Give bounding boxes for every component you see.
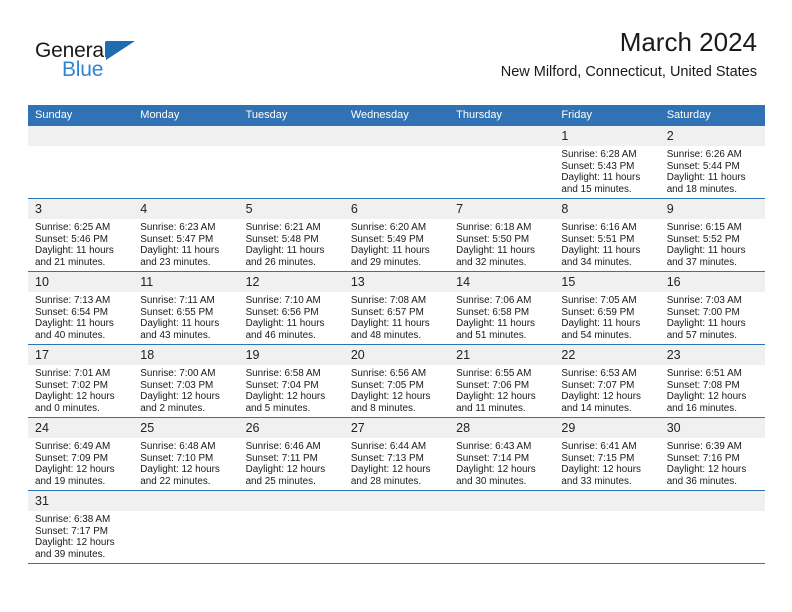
triangle-icon [106, 41, 135, 60]
sunset-line: Sunset: 7:06 PM [456, 380, 548, 392]
day-number: 26 [239, 418, 344, 438]
day-details: Sunrise: 7:10 AMSunset: 6:56 PMDaylight:… [239, 292, 344, 341]
sunset-line: Sunset: 5:44 PM [667, 161, 759, 173]
calendar-day-cell[interactable]: 12Sunrise: 7:10 AMSunset: 6:56 PMDayligh… [239, 272, 344, 345]
day-number: 16 [660, 272, 765, 292]
sunrise-line: Sunrise: 6:25 AM [35, 222, 127, 234]
day-number: 14 [449, 272, 554, 292]
calendar-day-cell[interactable]: 16Sunrise: 7:03 AMSunset: 7:00 PMDayligh… [660, 272, 765, 345]
sunset-line: Sunset: 7:04 PM [246, 380, 338, 392]
day-details: Sunrise: 6:18 AMSunset: 5:50 PMDaylight:… [449, 219, 554, 268]
sunset-line: Sunset: 7:09 PM [35, 453, 127, 465]
calendar-day-cell[interactable]: 31Sunrise: 6:38 AMSunset: 7:17 PMDayligh… [28, 491, 133, 564]
title-block: March 2024 New Milford, Connecticut, Uni… [501, 28, 757, 81]
calendar-day-cell-empty [28, 126, 133, 199]
day-number: 3 [28, 199, 133, 219]
day-number: 25 [133, 418, 238, 438]
calendar-day-cell[interactable]: 1Sunrise: 6:28 AMSunset: 5:43 PMDaylight… [554, 126, 659, 199]
calendar-page: General Blue March 2024 New Milford, Con… [0, 0, 792, 612]
daylight-2-line: and 36 minutes. [667, 476, 759, 488]
day-details: Sunrise: 6:43 AMSunset: 7:14 PMDaylight:… [449, 438, 554, 487]
sunset-line: Sunset: 5:51 PM [561, 234, 653, 246]
calendar-day-cell-empty [554, 491, 659, 564]
day-number: 13 [344, 272, 449, 292]
calendar-day-cell[interactable]: 3Sunrise: 6:25 AMSunset: 5:46 PMDaylight… [28, 199, 133, 272]
sunset-line: Sunset: 7:10 PM [140, 453, 232, 465]
calendar-day-cell[interactable]: 26Sunrise: 6:46 AMSunset: 7:11 PMDayligh… [239, 418, 344, 491]
sunrise-line: Sunrise: 6:48 AM [140, 441, 232, 453]
daylight-1-line: Daylight: 12 hours [35, 537, 127, 549]
daylight-1-line: Daylight: 12 hours [561, 464, 653, 476]
calendar-day-cell[interactable]: 9Sunrise: 6:15 AMSunset: 5:52 PMDaylight… [660, 199, 765, 272]
day-details: Sunrise: 6:46 AMSunset: 7:11 PMDaylight:… [239, 438, 344, 487]
day-number: 22 [554, 345, 659, 365]
calendar-body: 1Sunrise: 6:28 AMSunset: 5:43 PMDaylight… [28, 126, 765, 564]
sunrise-line: Sunrise: 6:41 AM [561, 441, 653, 453]
day-number [344, 491, 449, 511]
calendar-day-cell[interactable]: 22Sunrise: 6:53 AMSunset: 7:07 PMDayligh… [554, 345, 659, 418]
day-details: Sunrise: 6:21 AMSunset: 5:48 PMDaylight:… [239, 219, 344, 268]
calendar-day-cell-empty [239, 491, 344, 564]
calendar-day-cell[interactable]: 24Sunrise: 6:49 AMSunset: 7:09 PMDayligh… [28, 418, 133, 491]
calendar-day-cell[interactable]: 18Sunrise: 7:00 AMSunset: 7:03 PMDayligh… [133, 345, 238, 418]
calendar-header-row: SundayMondayTuesdayWednesdayThursdayFrid… [28, 105, 765, 126]
page-title: March 2024 [501, 28, 757, 58]
day-number: 27 [344, 418, 449, 438]
daylight-1-line: Daylight: 11 hours [456, 318, 548, 330]
day-details: Sunrise: 6:16 AMSunset: 5:51 PMDaylight:… [554, 219, 659, 268]
daylight-1-line: Daylight: 12 hours [35, 464, 127, 476]
weekday-header-row: SundayMondayTuesdayWednesdayThursdayFrid… [28, 105, 765, 126]
calendar-week-row: 3Sunrise: 6:25 AMSunset: 5:46 PMDaylight… [28, 199, 765, 272]
sunset-line: Sunset: 5:49 PM [351, 234, 443, 246]
day-details: Sunrise: 6:20 AMSunset: 5:49 PMDaylight:… [344, 219, 449, 268]
sunrise-line: Sunrise: 6:56 AM [351, 368, 443, 380]
sunrise-sunset-calendar-table: SundayMondayTuesdayWednesdayThursdayFrid… [28, 105, 765, 564]
daylight-2-line: and 48 minutes. [351, 330, 443, 342]
sunset-line: Sunset: 6:54 PM [35, 307, 127, 319]
calendar-week-row: 17Sunrise: 7:01 AMSunset: 7:02 PMDayligh… [28, 345, 765, 418]
weekday-header-tuesday: Tuesday [239, 105, 344, 126]
day-number: 28 [449, 418, 554, 438]
sunrise-line: Sunrise: 6:28 AM [561, 149, 653, 161]
calendar-day-cell[interactable]: 4Sunrise: 6:23 AMSunset: 5:47 PMDaylight… [133, 199, 238, 272]
sunrise-line: Sunrise: 6:46 AM [246, 441, 338, 453]
day-number: 15 [554, 272, 659, 292]
day-number: 17 [28, 345, 133, 365]
day-details: Sunrise: 7:00 AMSunset: 7:03 PMDaylight:… [133, 365, 238, 414]
calendar-day-cell[interactable]: 6Sunrise: 6:20 AMSunset: 5:49 PMDaylight… [344, 199, 449, 272]
day-number [449, 491, 554, 511]
daylight-2-line: and 22 minutes. [140, 476, 232, 488]
sunrise-line: Sunrise: 7:10 AM [246, 295, 338, 307]
calendar-day-cell[interactable]: 8Sunrise: 6:16 AMSunset: 5:51 PMDaylight… [554, 199, 659, 272]
daylight-1-line: Daylight: 12 hours [351, 464, 443, 476]
day-details: Sunrise: 6:48 AMSunset: 7:10 PMDaylight:… [133, 438, 238, 487]
day-number [554, 491, 659, 511]
day-details: Sunrise: 7:11 AMSunset: 6:55 PMDaylight:… [133, 292, 238, 341]
daylight-2-line: and 19 minutes. [35, 476, 127, 488]
day-number: 11 [133, 272, 238, 292]
daylight-2-line: and 57 minutes. [667, 330, 759, 342]
daylight-1-line: Daylight: 11 hours [140, 245, 232, 257]
daylight-1-line: Daylight: 11 hours [351, 318, 443, 330]
daylight-1-line: Daylight: 11 hours [561, 318, 653, 330]
sunset-line: Sunset: 5:47 PM [140, 234, 232, 246]
daylight-2-line: and 0 minutes. [35, 403, 127, 415]
daylight-2-line: and 11 minutes. [456, 403, 548, 415]
day-number: 23 [660, 345, 765, 365]
sunset-line: Sunset: 7:14 PM [456, 453, 548, 465]
daylight-1-line: Daylight: 12 hours [667, 391, 759, 403]
day-details: Sunrise: 6:41 AMSunset: 7:15 PMDaylight:… [554, 438, 659, 487]
sunset-line: Sunset: 6:57 PM [351, 307, 443, 319]
day-number [344, 126, 449, 146]
sunset-line: Sunset: 7:08 PM [667, 380, 759, 392]
calendar-day-cell-empty [660, 491, 765, 564]
daylight-1-line: Daylight: 12 hours [140, 464, 232, 476]
daylight-1-line: Daylight: 11 hours [667, 318, 759, 330]
calendar-day-cell-empty [449, 491, 554, 564]
daylight-2-line: and 37 minutes. [667, 257, 759, 269]
daylight-1-line: Daylight: 11 hours [456, 245, 548, 257]
daylight-1-line: Daylight: 11 hours [246, 318, 338, 330]
weekday-header-monday: Monday [133, 105, 238, 126]
day-number: 18 [133, 345, 238, 365]
weekday-header-friday: Friday [554, 105, 659, 126]
calendar-week-row: 10Sunrise: 7:13 AMSunset: 6:54 PMDayligh… [28, 272, 765, 345]
daylight-1-line: Daylight: 11 hours [667, 245, 759, 257]
daylight-2-line: and 46 minutes. [246, 330, 338, 342]
daylight-2-line: and 25 minutes. [246, 476, 338, 488]
calendar-day-cell[interactable]: 2Sunrise: 6:26 AMSunset: 5:44 PMDaylight… [660, 126, 765, 199]
sunset-line: Sunset: 7:00 PM [667, 307, 759, 319]
calendar-day-cell-empty [449, 126, 554, 199]
daylight-1-line: Daylight: 11 hours [561, 172, 653, 184]
day-number [660, 491, 765, 511]
daylight-2-line: and 16 minutes. [667, 403, 759, 415]
sunrise-line: Sunrise: 7:01 AM [35, 368, 127, 380]
daylight-1-line: Daylight: 12 hours [667, 464, 759, 476]
daylight-1-line: Daylight: 12 hours [456, 464, 548, 476]
sunrise-line: Sunrise: 6:38 AM [35, 514, 127, 526]
calendar-day-cell[interactable]: 29Sunrise: 6:41 AMSunset: 7:15 PMDayligh… [554, 418, 659, 491]
calendar-day-cell[interactable]: 25Sunrise: 6:48 AMSunset: 7:10 PMDayligh… [133, 418, 238, 491]
daylight-1-line: Daylight: 11 hours [561, 245, 653, 257]
day-details: Sunrise: 7:01 AMSunset: 7:02 PMDaylight:… [28, 365, 133, 414]
sunrise-line: Sunrise: 7:05 AM [561, 295, 653, 307]
calendar-day-cell[interactable]: 7Sunrise: 6:18 AMSunset: 5:50 PMDaylight… [449, 199, 554, 272]
daylight-1-line: Daylight: 12 hours [140, 391, 232, 403]
day-details: Sunrise: 6:28 AMSunset: 5:43 PMDaylight:… [554, 146, 659, 195]
daylight-2-line: and 21 minutes. [35, 257, 127, 269]
day-details: Sunrise: 7:13 AMSunset: 6:54 PMDaylight:… [28, 292, 133, 341]
day-number: 1 [554, 126, 659, 146]
day-number [239, 491, 344, 511]
daylight-2-line: and 43 minutes. [140, 330, 232, 342]
calendar-day-cell-empty [133, 491, 238, 564]
day-details: Sunrise: 6:26 AMSunset: 5:44 PMDaylight:… [660, 146, 765, 195]
sunrise-line: Sunrise: 6:15 AM [667, 222, 759, 234]
sunset-line: Sunset: 7:11 PM [246, 453, 338, 465]
daylight-1-line: Daylight: 11 hours [246, 245, 338, 257]
day-details: Sunrise: 7:06 AMSunset: 6:58 PMDaylight:… [449, 292, 554, 341]
sunset-line: Sunset: 5:50 PM [456, 234, 548, 246]
calendar-day-cell[interactable]: 15Sunrise: 7:05 AMSunset: 6:59 PMDayligh… [554, 272, 659, 345]
daylight-1-line: Daylight: 11 hours [35, 245, 127, 257]
daylight-2-line: and 30 minutes. [456, 476, 548, 488]
sunrise-line: Sunrise: 7:13 AM [35, 295, 127, 307]
calendar-day-cell[interactable]: 19Sunrise: 6:58 AMSunset: 7:04 PMDayligh… [239, 345, 344, 418]
day-number: 20 [344, 345, 449, 365]
day-number: 24 [28, 418, 133, 438]
sunset-line: Sunset: 6:55 PM [140, 307, 232, 319]
sunset-line: Sunset: 7:03 PM [140, 380, 232, 392]
day-details: Sunrise: 6:39 AMSunset: 7:16 PMDaylight:… [660, 438, 765, 487]
day-number: 8 [554, 199, 659, 219]
day-number [133, 126, 238, 146]
day-details: Sunrise: 6:23 AMSunset: 5:47 PMDaylight:… [133, 219, 238, 268]
daylight-1-line: Daylight: 11 hours [140, 318, 232, 330]
sunset-line: Sunset: 6:59 PM [561, 307, 653, 319]
sunset-line: Sunset: 7:17 PM [35, 526, 127, 538]
sunrise-line: Sunrise: 7:06 AM [456, 295, 548, 307]
day-details: Sunrise: 6:25 AMSunset: 5:46 PMDaylight:… [28, 219, 133, 268]
sunrise-line: Sunrise: 6:53 AM [561, 368, 653, 380]
day-number: 9 [660, 199, 765, 219]
weekday-header-sunday: Sunday [28, 105, 133, 126]
sunset-line: Sunset: 5:48 PM [246, 234, 338, 246]
daylight-2-line: and 40 minutes. [35, 330, 127, 342]
sunset-line: Sunset: 6:56 PM [246, 307, 338, 319]
calendar-day-cell[interactable]: 20Sunrise: 6:56 AMSunset: 7:05 PMDayligh… [344, 345, 449, 418]
daylight-1-line: Daylight: 12 hours [246, 464, 338, 476]
day-number [449, 126, 554, 146]
calendar-week-row: 24Sunrise: 6:49 AMSunset: 7:09 PMDayligh… [28, 418, 765, 491]
calendar-day-cell[interactable]: 17Sunrise: 7:01 AMSunset: 7:02 PMDayligh… [28, 345, 133, 418]
sunset-line: Sunset: 5:52 PM [667, 234, 759, 246]
daylight-2-line: and 32 minutes. [456, 257, 548, 269]
calendar-day-cell[interactable]: 11Sunrise: 7:11 AMSunset: 6:55 PMDayligh… [133, 272, 238, 345]
daylight-1-line: Daylight: 12 hours [351, 391, 443, 403]
sunrise-line: Sunrise: 6:51 AM [667, 368, 759, 380]
calendar-day-cell[interactable]: 13Sunrise: 7:08 AMSunset: 6:57 PMDayligh… [344, 272, 449, 345]
day-number: 4 [133, 199, 238, 219]
sunrise-line: Sunrise: 6:23 AM [140, 222, 232, 234]
sunrise-line: Sunrise: 6:55 AM [456, 368, 548, 380]
sunrise-line: Sunrise: 6:58 AM [246, 368, 338, 380]
sunset-line: Sunset: 5:43 PM [561, 161, 653, 173]
calendar-week-row: 31Sunrise: 6:38 AMSunset: 7:17 PMDayligh… [28, 491, 765, 564]
day-details: Sunrise: 6:56 AMSunset: 7:05 PMDaylight:… [344, 365, 449, 414]
general-blue-logo[interactable]: General Blue [35, 40, 185, 88]
logo-text-blue: Blue [62, 59, 103, 80]
weekday-header-saturday: Saturday [660, 105, 765, 126]
day-details: Sunrise: 6:51 AMSunset: 7:08 PMDaylight:… [660, 365, 765, 414]
day-number: 31 [28, 491, 133, 511]
sunset-line: Sunset: 6:58 PM [456, 307, 548, 319]
sunrise-line: Sunrise: 7:03 AM [667, 295, 759, 307]
sunrise-line: Sunrise: 7:08 AM [351, 295, 443, 307]
daylight-2-line: and 18 minutes. [667, 184, 759, 196]
sunset-line: Sunset: 7:16 PM [667, 453, 759, 465]
daylight-2-line: and 5 minutes. [246, 403, 338, 415]
calendar-day-cell-empty [344, 126, 449, 199]
sunrise-line: Sunrise: 6:43 AM [456, 441, 548, 453]
sunset-line: Sunset: 7:02 PM [35, 380, 127, 392]
sunrise-line: Sunrise: 6:49 AM [35, 441, 127, 453]
day-number: 2 [660, 126, 765, 146]
sunrise-line: Sunrise: 6:39 AM [667, 441, 759, 453]
day-number: 12 [239, 272, 344, 292]
daylight-1-line: Daylight: 12 hours [456, 391, 548, 403]
daylight-1-line: Daylight: 12 hours [246, 391, 338, 403]
daylight-2-line: and 23 minutes. [140, 257, 232, 269]
daylight-2-line: and 29 minutes. [351, 257, 443, 269]
sunset-line: Sunset: 7:13 PM [351, 453, 443, 465]
day-number: 30 [660, 418, 765, 438]
sunset-line: Sunset: 7:15 PM [561, 453, 653, 465]
page-header: General Blue March 2024 New Milford, Con… [35, 28, 757, 100]
day-number: 6 [344, 199, 449, 219]
daylight-2-line: and 39 minutes. [35, 549, 127, 561]
daylight-2-line: and 14 minutes. [561, 403, 653, 415]
weekday-header-thursday: Thursday [449, 105, 554, 126]
sunset-line: Sunset: 5:46 PM [35, 234, 127, 246]
sunset-line: Sunset: 7:07 PM [561, 380, 653, 392]
sunrise-line: Sunrise: 6:21 AM [246, 222, 338, 234]
daylight-2-line: and 28 minutes. [351, 476, 443, 488]
day-number [239, 126, 344, 146]
calendar-day-cell-empty [239, 126, 344, 199]
daylight-2-line: and 2 minutes. [140, 403, 232, 415]
calendar-day-cell[interactable]: 5Sunrise: 6:21 AMSunset: 5:48 PMDaylight… [239, 199, 344, 272]
day-number: 19 [239, 345, 344, 365]
daylight-2-line: and 51 minutes. [456, 330, 548, 342]
calendar-day-cell-empty [344, 491, 449, 564]
calendar-day-cell[interactable]: 27Sunrise: 6:44 AMSunset: 7:13 PMDayligh… [344, 418, 449, 491]
daylight-2-line: and 8 minutes. [351, 403, 443, 415]
calendar-week-row: 1Sunrise: 6:28 AMSunset: 5:43 PMDaylight… [28, 126, 765, 199]
day-details: Sunrise: 7:03 AMSunset: 7:00 PMDaylight:… [660, 292, 765, 341]
daylight-1-line: Daylight: 11 hours [35, 318, 127, 330]
daylight-2-line: and 15 minutes. [561, 184, 653, 196]
day-details: Sunrise: 6:53 AMSunset: 7:07 PMDaylight:… [554, 365, 659, 414]
calendar-day-cell[interactable]: 30Sunrise: 6:39 AMSunset: 7:16 PMDayligh… [660, 418, 765, 491]
daylight-1-line: Daylight: 12 hours [561, 391, 653, 403]
day-details: Sunrise: 7:08 AMSunset: 6:57 PMDaylight:… [344, 292, 449, 341]
calendar-day-cell[interactable]: 21Sunrise: 6:55 AMSunset: 7:06 PMDayligh… [449, 345, 554, 418]
day-number [133, 491, 238, 511]
sunrise-line: Sunrise: 6:20 AM [351, 222, 443, 234]
sunrise-line: Sunrise: 7:00 AM [140, 368, 232, 380]
sunrise-line: Sunrise: 6:26 AM [667, 149, 759, 161]
calendar-day-cell[interactable]: 10Sunrise: 7:13 AMSunset: 6:54 PMDayligh… [28, 272, 133, 345]
daylight-1-line: Daylight: 11 hours [667, 172, 759, 184]
day-details: Sunrise: 7:05 AMSunset: 6:59 PMDaylight:… [554, 292, 659, 341]
daylight-1-line: Daylight: 11 hours [351, 245, 443, 257]
daylight-2-line: and 26 minutes. [246, 257, 338, 269]
page-subtitle: New Milford, Connecticut, United States [501, 64, 757, 81]
day-details: Sunrise: 6:58 AMSunset: 7:04 PMDaylight:… [239, 365, 344, 414]
calendar-day-cell-empty [133, 126, 238, 199]
day-number [28, 126, 133, 146]
daylight-2-line: and 34 minutes. [561, 257, 653, 269]
sunrise-line: Sunrise: 6:18 AM [456, 222, 548, 234]
sunrise-line: Sunrise: 6:44 AM [351, 441, 443, 453]
calendar-day-cell[interactable]: 23Sunrise: 6:51 AMSunset: 7:08 PMDayligh… [660, 345, 765, 418]
day-number: 5 [239, 199, 344, 219]
day-number: 7 [449, 199, 554, 219]
day-number: 10 [28, 272, 133, 292]
sunset-line: Sunset: 7:05 PM [351, 380, 443, 392]
calendar-day-cell[interactable]: 14Sunrise: 7:06 AMSunset: 6:58 PMDayligh… [449, 272, 554, 345]
day-details: Sunrise: 6:55 AMSunset: 7:06 PMDaylight:… [449, 365, 554, 414]
day-number: 21 [449, 345, 554, 365]
sunrise-line: Sunrise: 7:11 AM [140, 295, 232, 307]
daylight-1-line: Daylight: 12 hours [35, 391, 127, 403]
day-number: 29 [554, 418, 659, 438]
weekday-header-wednesday: Wednesday [344, 105, 449, 126]
day-details: Sunrise: 6:49 AMSunset: 7:09 PMDaylight:… [28, 438, 133, 487]
daylight-2-line: and 33 minutes. [561, 476, 653, 488]
day-details: Sunrise: 6:44 AMSunset: 7:13 PMDaylight:… [344, 438, 449, 487]
sunrise-line: Sunrise: 6:16 AM [561, 222, 653, 234]
day-details: Sunrise: 6:38 AMSunset: 7:17 PMDaylight:… [28, 511, 133, 560]
daylight-2-line: and 54 minutes. [561, 330, 653, 342]
calendar-day-cell[interactable]: 28Sunrise: 6:43 AMSunset: 7:14 PMDayligh… [449, 418, 554, 491]
day-details: Sunrise: 6:15 AMSunset: 5:52 PMDaylight:… [660, 219, 765, 268]
